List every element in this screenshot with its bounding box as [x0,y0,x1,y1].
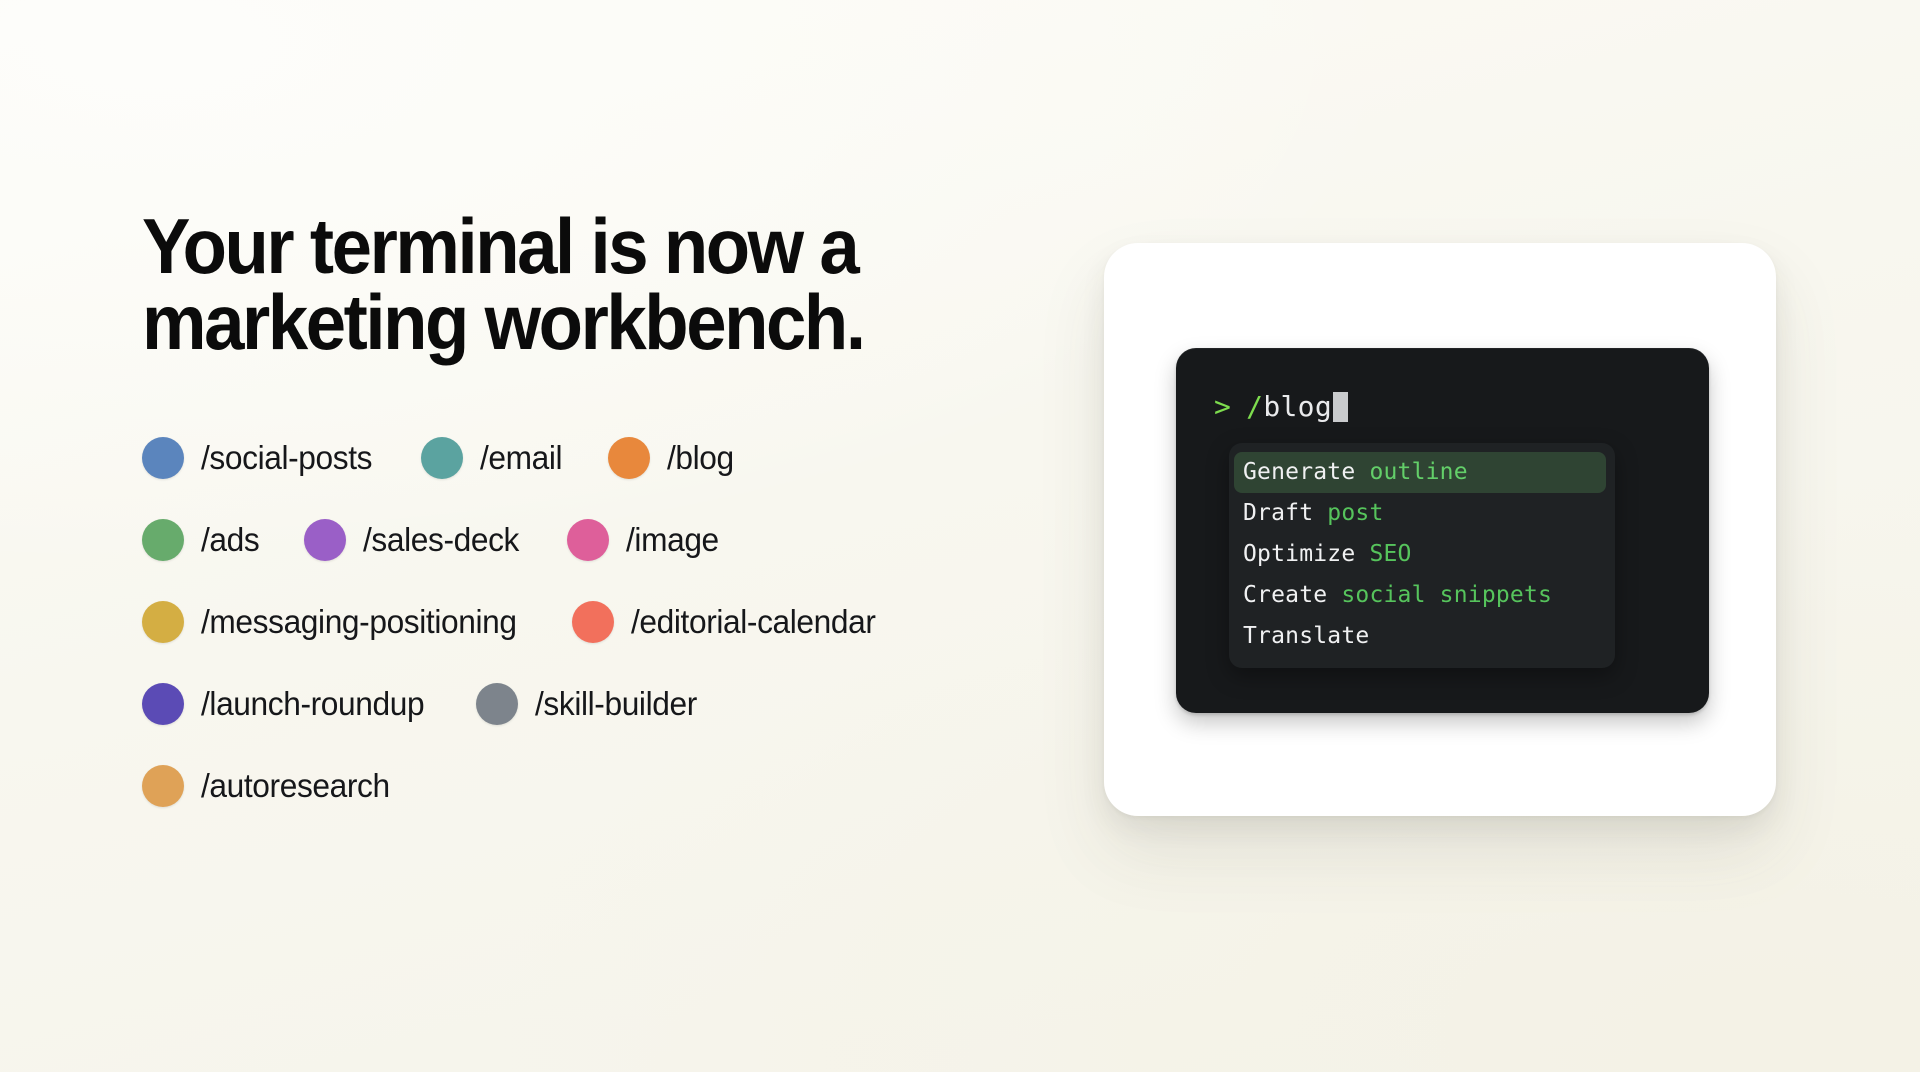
command-label: /ads [201,521,259,559]
command-chip[interactable]: /ads [142,519,262,561]
command-chip[interactable]: /blog [608,437,737,479]
command-label: /autoresearch [201,767,390,805]
text-cursor [1333,392,1348,422]
menu-item-selected[interactable]: Generate outline [1234,452,1606,493]
terminal-screen[interactable]: > / blog Generate outlineDraft postOptim… [1176,348,1709,713]
command-dot-icon [476,683,518,725]
command-dot-icon [142,601,184,643]
menu-item[interactable]: Create social snippets [1229,575,1615,616]
command-chip[interactable]: /editorial-calendar [572,601,886,643]
menu-item-object: SEO [1355,541,1411,567]
command-label: /email [480,439,562,477]
menu-item[interactable]: Optimize SEO [1229,534,1615,575]
command-label: /skill-builder [535,685,697,723]
command-chip[interactable]: /messaging-positioning [142,601,530,643]
page-title: Your terminal is now a marketing workben… [142,208,979,361]
command-row: /autoresearch [142,745,1042,827]
command-label: /sales-deck [363,521,519,559]
command-chip[interactable]: /launch-roundup [142,683,434,725]
command-label: /editorial-calendar [631,603,876,641]
command-chip[interactable]: /sales-deck [304,519,526,561]
command-row: /social-posts/email/blog [142,417,1042,499]
menu-item-object: outline [1355,459,1467,485]
command-chip[interactable]: /email [421,437,566,479]
command-label: /launch-roundup [201,685,424,723]
menu-item-object: social snippets [1327,582,1552,608]
command-row: /launch-roundup/skill-builder [142,663,1042,745]
command-dot-icon [608,437,650,479]
command-dot-icon [142,519,184,561]
terminal-prompt-line[interactable]: > / blog [1214,392,1348,422]
command-chip[interactable]: /skill-builder [476,683,704,725]
menu-item[interactable]: Draft post [1229,493,1615,534]
command-label: /social-posts [201,439,372,477]
left-content-column: Your terminal is now a marketing workben… [142,208,1042,827]
command-list: /social-posts/email/blog/ads/sales-deck/… [142,417,1042,827]
poster-canvas: Your terminal is now a marketing workben… [0,0,1920,1072]
menu-item-verb: Optimize [1243,541,1355,567]
prompt-caret-icon: > [1214,393,1231,421]
command-dot-icon [304,519,346,561]
command-dot-icon [572,601,614,643]
autocomplete-menu[interactable]: Generate outlineDraft postOptimize SEOCr… [1229,443,1615,668]
command-dot-icon [142,437,184,479]
command-label: /image [626,521,719,559]
command-label: /messaging-positioning [201,603,517,641]
menu-item-verb: Create [1243,582,1327,608]
command-chip[interactable]: /autoresearch [142,765,398,807]
command-chip[interactable]: /social-posts [142,437,379,479]
command-dot-icon [142,683,184,725]
menu-item-object: post [1313,500,1383,526]
command-label: /blog [667,439,734,477]
menu-item-verb: Draft [1243,500,1313,526]
command-dot-icon [567,519,609,561]
menu-item[interactable]: Translate [1229,616,1615,657]
command-row: /messaging-positioning/editorial-calenda… [142,581,1042,663]
command-input-text[interactable]: blog [1263,393,1332,421]
menu-item-verb: Generate [1243,459,1355,485]
command-dot-icon [421,437,463,479]
command-dot-icon [142,765,184,807]
command-slash: / [1246,393,1263,421]
menu-item-verb: Translate [1243,623,1369,649]
terminal-card: > / blog Generate outlineDraft postOptim… [1104,243,1776,816]
command-chip[interactable]: /image [567,519,723,561]
command-row: /ads/sales-deck/image [142,499,1042,581]
